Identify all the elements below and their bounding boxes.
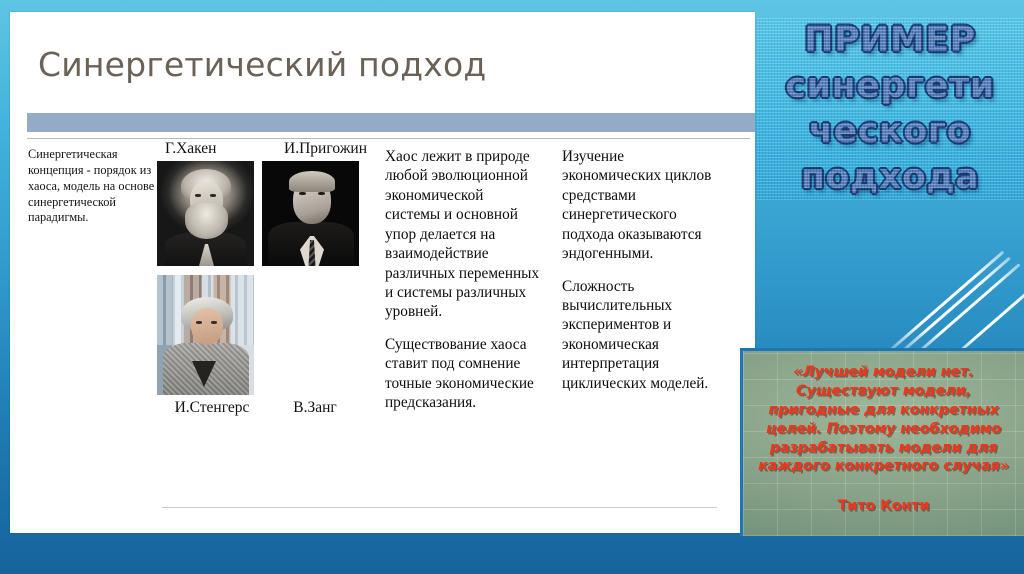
wordart-line-3: ческого (756, 109, 1024, 155)
people-names-top-row: Г.Хакен И.Пригожин (157, 140, 371, 161)
column-concept: Синергетическая концепция - порядок из х… (28, 147, 156, 235)
chaos-paragraph-2: Существование хаоса ставит под сомнение … (385, 335, 542, 413)
wordart-line-4: подхода (756, 155, 1024, 201)
chaos-paragraph-1: Хаос лежит в природе любой эволюционной … (385, 147, 542, 322)
person-name-stengers: И.Стенгерс (157, 399, 267, 417)
stripe-line (894, 257, 1010, 359)
stripe-line (883, 251, 1004, 357)
page-title: Синергетический подход (38, 45, 486, 84)
column-cycles: Изучение экономических циклов средствами… (562, 147, 727, 406)
bottom-divider-rule (162, 507, 717, 508)
title-accent-bar (27, 113, 755, 132)
wordart-line-1: ПРИМЕР (756, 18, 1024, 64)
person-name-zang: В.Занг (267, 399, 363, 417)
slide-panel: Синергетический подход Синергетическая к… (10, 12, 755, 533)
wordart-heading: ПРИМЕР синергети ческого подхода (756, 18, 1024, 200)
photo-row-top (157, 161, 371, 266)
photo-row-bottom (157, 266, 371, 395)
quote-author: Тито Конти (757, 498, 1010, 514)
diagonal-stripes-decoration (862, 238, 1024, 360)
cycles-paragraph-2: Сложность вычислительных экспериментов и… (562, 277, 727, 394)
wordart-line-2: синергети (756, 64, 1024, 110)
concept-paragraph: Синергетическая концепция - порядок из х… (28, 147, 156, 226)
title-divider-rule (27, 138, 750, 139)
person-name-haken: Г.Хакен (165, 140, 216, 158)
people-names-bottom-row: И.Стенгерс В.Занг (157, 399, 371, 417)
photo-haken (157, 161, 254, 266)
quote-text: «Лучшей модели нет. Существуют модели, п… (757, 363, 1010, 476)
stripe-line (909, 263, 1020, 360)
column-chaos: Хаос лежит в природе любой эволюционной … (385, 147, 542, 425)
quote-box: «Лучшей модели нет. Существуют модели, п… (740, 348, 1024, 536)
cycles-paragraph-1: Изучение экономических циклов средствами… (562, 147, 727, 264)
column-people: Г.Хакен И.Пригожин И.Ст (157, 140, 371, 417)
person-name-prigozhin: И.Пригожин (284, 140, 367, 158)
photo-stengers (157, 275, 254, 395)
photo-prigozhin (262, 161, 359, 266)
